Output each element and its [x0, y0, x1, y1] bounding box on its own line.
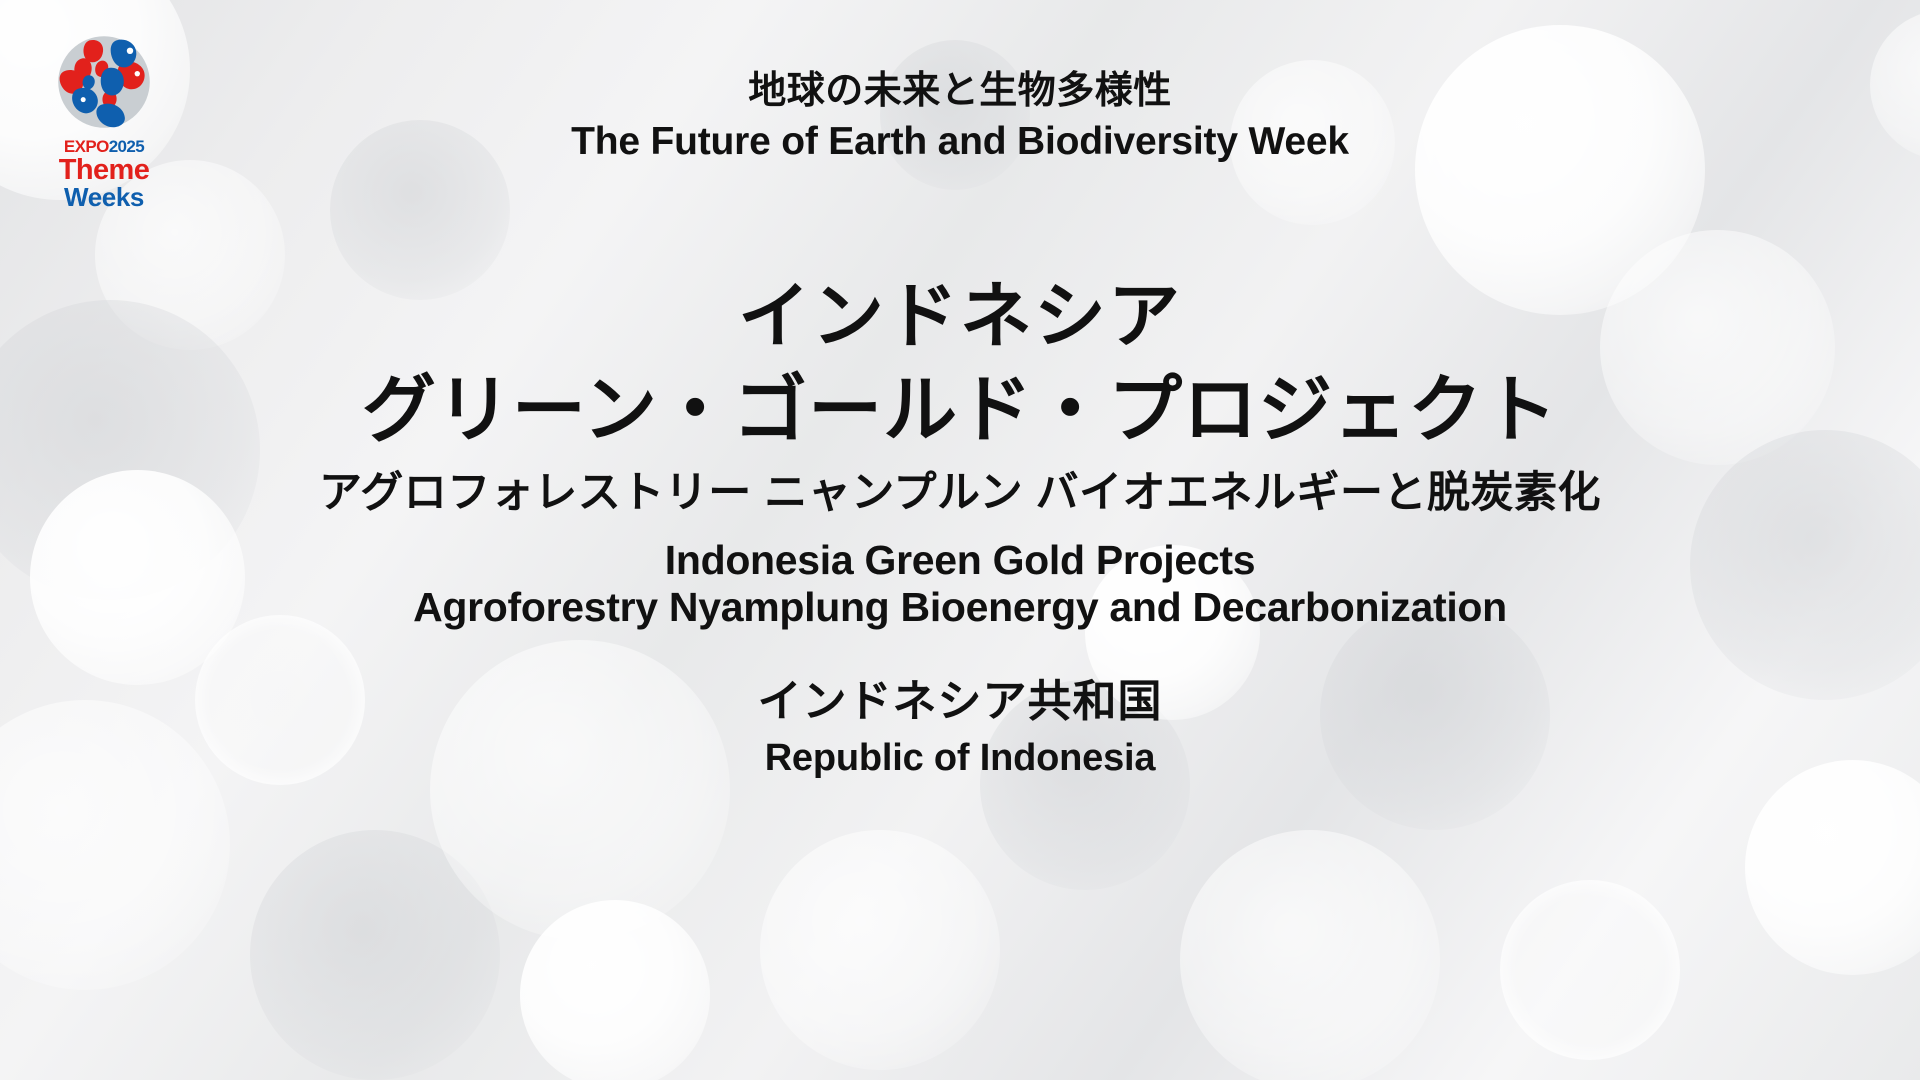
main-subtitle-japanese: アグロフォレストリー ニャンプルン バイオエネルギーと脱炭素化 — [0, 467, 1920, 521]
slide-content: 地球の未来と生物多様性 The Future of Earth and Biod… — [0, 0, 1920, 1080]
main-title-japanese-line-2: グリーン・ゴールド・プロジェクト — [0, 366, 1920, 453]
main-title-japanese-line-1: インドネシア — [0, 275, 1920, 360]
theme-week-title-english: The Future of Earth and Biodiversity Wee… — [0, 118, 1920, 166]
organization-name-english: Republic of Indonesia — [0, 735, 1920, 781]
theme-week-title-japanese: 地球の未来と生物多様性 — [0, 68, 1920, 114]
organization-name-japanese: インドネシア共和国 — [0, 675, 1920, 729]
main-title-block: インドネシア グリーン・ゴールド・プロジェクト アグロフォレストリー ニャンプル… — [0, 275, 1920, 630]
organization-block: インドネシア共和国 Republic of Indonesia — [0, 675, 1920, 781]
main-subtitle-english-block: Indonesia Green Gold Projects Agroforest… — [0, 537, 1920, 630]
main-title-english-line-1: Indonesia Green Gold Projects — [0, 537, 1920, 584]
theme-week-header: 地球の未来と生物多様性 The Future of Earth and Biod… — [0, 68, 1920, 166]
main-title-english-line-2: Agroforestry Nyamplung Bioenergy and Dec… — [0, 584, 1920, 631]
presentation-slide: EXPO2025 Theme Weeks 地球の未来と生物多様性 The Fut… — [0, 0, 1920, 1080]
